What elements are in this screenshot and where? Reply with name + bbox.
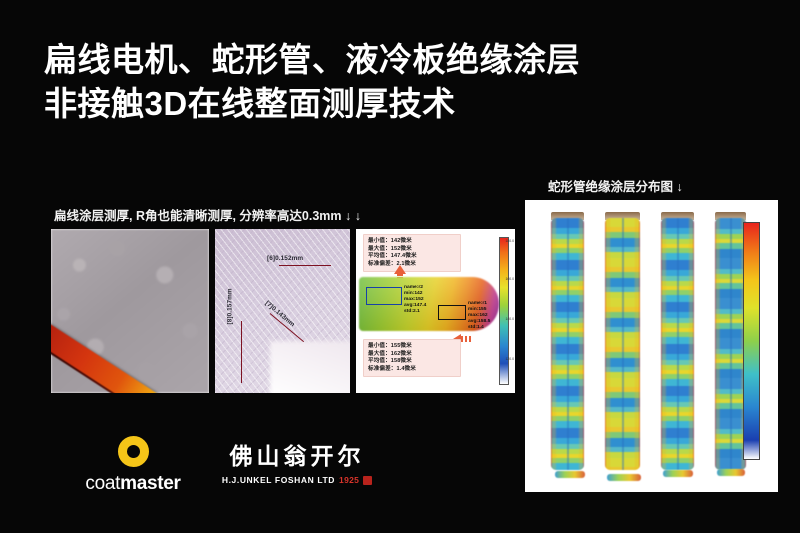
stat-box-top: 最小值：142微米 最大值：152微米 平均值：147.4微米 标准偏差：2.1… [363,234,461,272]
coatmaster-light-part: coat [85,473,120,494]
coatmaster-logo: coatmaster [68,436,198,495]
tube-foot-4 [717,469,745,476]
roi-rect-r1 [438,305,466,320]
stat-top-avg: 平均值：147.4微米 [368,253,456,261]
colorbar-tick-2: 140.0 [506,317,515,321]
coatmaster-wordmark: coatmaster [68,473,198,495]
dimension-label-6: [6]0.152mm [267,255,303,262]
unkel-chinese-name: 佛山翁开尔 [212,442,382,472]
panel-thickness-map: 最小值：142微米 最大值：152微米 平均值：147.4微米 标准偏差：2.1… [356,229,515,393]
colorbar-tick-3: 120.0 [506,357,515,361]
serpentine-plot-area [537,210,768,482]
colorbar-serpentine [743,222,760,460]
title-line-2: 非接触3D在线整面测厚技术 [44,82,744,126]
panel-flat-wire-thermal [51,229,209,393]
title-line-1: 扁线电机、蛇形管、液冷板绝缘涂层 [44,38,744,82]
dimension-label-8: [8]0.157mm [227,288,234,324]
coatmaster-bold-part: master [120,473,181,494]
roi-annotation-r2: name:r2 min:142 max:152 avg:147.4 std:2.… [404,285,426,315]
stat-top-min: 最小值：142微米 [368,238,456,246]
unkel-founded-year: 1925 [339,475,359,485]
colorbar-tick-0: 180.0 [506,239,515,243]
unkel-logo: 佛山翁开尔 H.J.UNKEL FOSHAN LTD 1925 [212,442,382,485]
tube-strip-1 [551,218,584,470]
tube-foot-1 [555,471,585,478]
caption-right: 蛇形管绝缘涂层分布图 ↓ [548,176,683,195]
tube-strip-4 [715,218,746,470]
slide-root: 扁线电机、蛇形管、液冷板绝缘涂层 非接触3D在线整面测厚技术 扁线涂层测厚, R… [0,0,800,533]
page-title: 扁线电机、蛇形管、液冷板绝缘涂层 非接触3D在线整面测厚技术 [44,38,744,126]
tube-foot-2 [607,474,641,481]
roi-rect-r2 [366,287,402,305]
dimension-line-6 [279,265,331,266]
unkel-subtitle-row: H.J.UNKEL FOSHAN LTD 1925 [212,475,382,485]
tube-strip-2 [605,218,640,470]
seal-icon [363,476,372,485]
stat-box-bottom: 最小值：155微米 最大值：162微米 平均值：158微米 标准偏差：1.4微米 [363,339,461,377]
dimension-line-8 [241,321,242,383]
panel-serpentine-heatmap [525,200,778,492]
colorbar-tick-1: 160.0 [506,277,515,281]
panel-cross-section-micrograph: [6]0.152mm [7]0.143mm [8]0.157mm [215,229,350,393]
tube-strip-3 [661,218,694,470]
colorbar-thickness-map [499,237,509,385]
up-arrow-icon [394,265,406,274]
stat-top-std: 标准偏差：2.1微米 [368,261,456,269]
stat-bottom-std: 标准偏差：1.4微米 [368,366,456,374]
micrograph-highlight [270,341,350,393]
ring-icon [118,436,149,467]
unkel-english-name: H.J.UNKEL FOSHAN LTD [222,475,335,485]
roi-annotation-r1: name:r1 min:155 max:162 avg:158.5 std:1.… [468,301,490,331]
caption-left: 扁线涂层测厚, R角也能清晰测厚, 分辨率高达0.3mm ↓ ↓ [54,205,361,224]
tube-foot-3 [663,470,693,477]
logo-bar: coatmaster 佛山翁开尔 H.J.UNKEL FOSHAN LTD 19… [60,436,380,506]
stat-bottom-min: 最小值：155微米 [368,343,456,351]
stat-bottom-avg: 平均值：158微米 [368,358,456,366]
